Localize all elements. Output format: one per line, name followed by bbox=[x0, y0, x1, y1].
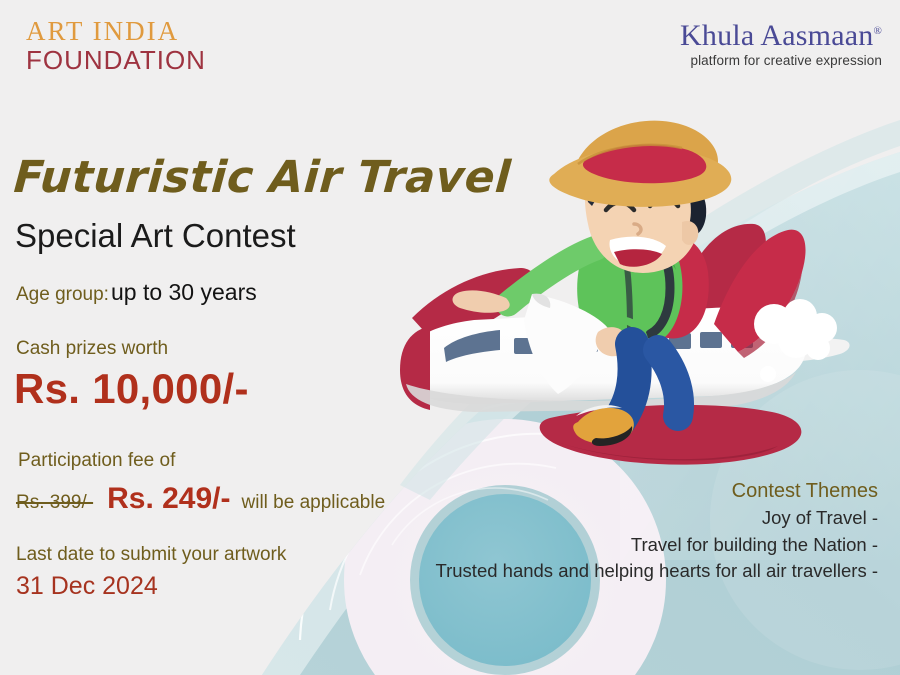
khula-aasmaan-text: Khula Aasmaan bbox=[680, 19, 873, 52]
deadline-date: 31 Dec 2024 bbox=[16, 572, 158, 601]
plane-left-wing bbox=[412, 268, 534, 342]
participation-fee-label: Participation fee of bbox=[18, 450, 175, 472]
backpack-strap-2 bbox=[622, 238, 630, 328]
page-subtitle: Special Art Contest bbox=[15, 217, 296, 255]
plane-nose bbox=[400, 326, 430, 410]
cash-prize-amount: Rs. 10,000/- bbox=[14, 365, 249, 413]
boy-hair bbox=[586, 134, 706, 206]
fee-suffix-text: will be applicable bbox=[242, 492, 386, 514]
boy-straw-hat-crown bbox=[575, 121, 718, 194]
contest-themes-block: Contest Themes Joy of Travel - Travel fo… bbox=[435, 477, 878, 584]
khula-aasmaan-logo[interactable]: Khula Aasmaan® platform for creative exp… bbox=[680, 20, 882, 68]
boy-eye-right bbox=[650, 199, 678, 207]
boy-holding-hand bbox=[596, 327, 627, 356]
shirt-shade bbox=[614, 240, 676, 270]
boy-pointing-hand bbox=[453, 290, 510, 312]
boy-shirt bbox=[577, 227, 682, 349]
boy-pointing-arm bbox=[508, 248, 596, 304]
boy-forearm bbox=[608, 316, 648, 338]
boy-ear bbox=[682, 221, 698, 245]
contest-theme-item: Trusted hands and helping hearts for all… bbox=[435, 558, 878, 584]
contest-theme-item: Travel for building the Nation - bbox=[435, 532, 878, 558]
boy-hair-side bbox=[682, 180, 706, 236]
contest-themes-heading: Contest Themes bbox=[435, 477, 878, 505]
boy-shoe-sole bbox=[592, 426, 632, 446]
boy-eye-left bbox=[606, 203, 634, 211]
logo-line-foundation: FOUNDATION bbox=[26, 47, 206, 74]
boy-nose bbox=[634, 224, 641, 234]
poster-canvas: ART INDIA FOUNDATION Khula Aasmaan® plat… bbox=[0, 0, 900, 675]
fee-original-price: Rs. 399/- bbox=[16, 492, 93, 514]
hat-band bbox=[583, 144, 706, 183]
boy-straw-hat-brim bbox=[549, 147, 731, 207]
plane-belly-shadow bbox=[406, 372, 796, 412]
contest-theme-item: Joy of Travel - bbox=[435, 505, 878, 531]
boy-mouth bbox=[609, 237, 666, 266]
map-fold bbox=[532, 294, 550, 308]
plane-pontoon bbox=[540, 405, 802, 465]
teal-sweep-highlight bbox=[262, 152, 900, 675]
boy-backpack bbox=[637, 233, 709, 339]
age-group-value: up to 30 years bbox=[111, 279, 257, 305]
near-wing-shade bbox=[738, 272, 802, 358]
age-group-label: Age group: bbox=[16, 284, 109, 305]
fee-discounted-price: Rs. 249/- bbox=[107, 482, 230, 516]
teal-sweep-shape bbox=[262, 152, 900, 675]
backpack-strap-1 bbox=[638, 238, 670, 334]
plane-fuselage bbox=[400, 307, 806, 404]
logo-khula-aasmaan-name: Khula Aasmaan® bbox=[680, 20, 882, 52]
plane-near-wing bbox=[714, 230, 806, 352]
boy-tongue bbox=[614, 249, 662, 267]
boy-map-paper bbox=[524, 294, 608, 394]
boy-shoe-top bbox=[576, 405, 622, 416]
hat-weave-line bbox=[578, 145, 682, 164]
logo-tagline: platform for creative expression bbox=[680, 54, 882, 68]
cash-prize-label: Cash prizes worth bbox=[16, 338, 168, 360]
plane-cockpit-window bbox=[444, 330, 500, 362]
page-title: Futuristic Air Travel bbox=[12, 152, 512, 203]
boy-face bbox=[585, 157, 700, 273]
pontoon-shadow bbox=[558, 442, 778, 461]
boy-leg-back bbox=[658, 350, 679, 416]
plane-windows bbox=[514, 332, 753, 354]
age-group-row: Age group:up to 30 years bbox=[16, 279, 257, 306]
logo-line-art-india: ART INDIA bbox=[26, 18, 206, 46]
registered-trademark-icon: ® bbox=[873, 25, 882, 37]
cloud-puff bbox=[754, 299, 837, 382]
deadline-label: Last date to submit your artwork bbox=[16, 544, 286, 566]
boy-shoe bbox=[573, 408, 634, 444]
art-india-foundation-logo[interactable]: ART INDIA FOUNDATION bbox=[26, 18, 206, 73]
boy-leg-upper bbox=[618, 344, 635, 422]
plane-tail-fin bbox=[682, 224, 766, 326]
participation-fee-row: Rs. 399/- Rs. 249/- will be applicable bbox=[16, 482, 385, 516]
plane-rear-wing bbox=[750, 338, 850, 362]
